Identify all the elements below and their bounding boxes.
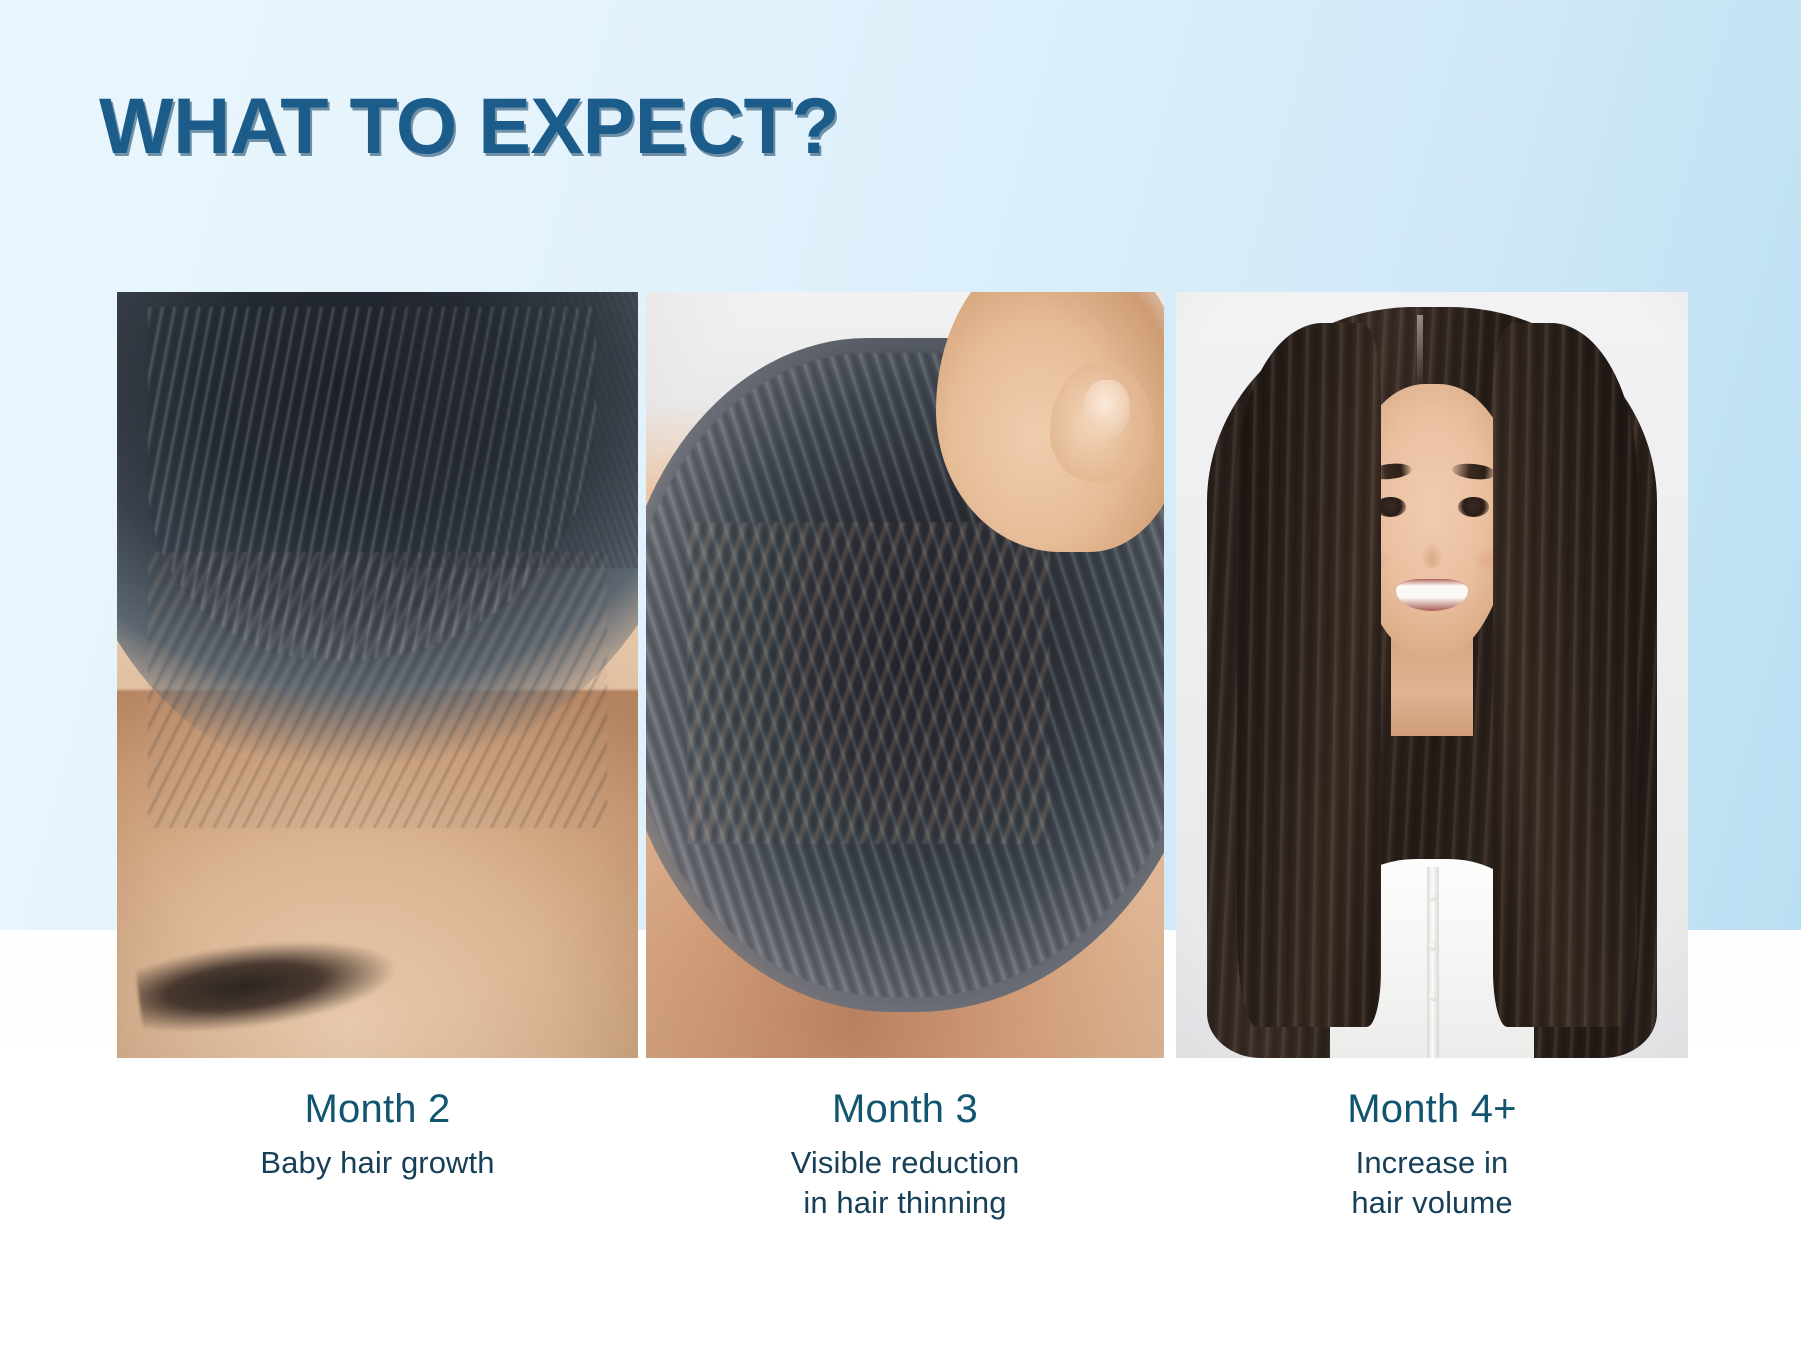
- caption-block-month-2: Month 2 Baby hair growth: [117, 1058, 638, 1183]
- timeline-gallery: Month 2 Baby hair growth Month 3 Visible…: [0, 0, 1801, 1350]
- scalp-hairline-closeup-photo: [117, 292, 638, 1058]
- card-subtitle-month-2: Baby hair growth: [117, 1143, 638, 1183]
- caption-block-month-3: Month 3 Visible reduction in hair thinni…: [646, 1058, 1164, 1224]
- hand-lifting-hair-parting-photo: [646, 292, 1164, 1058]
- timeline-card-month-3: Month 3 Visible reduction in hair thinni…: [646, 292, 1164, 1224]
- smiling-woman-long-hair-photo: [1176, 292, 1688, 1058]
- card-title-month-4-plus: Month 4+: [1176, 1086, 1688, 1133]
- card-subtitle-month-3-line-1: Visible reduction: [646, 1143, 1164, 1183]
- card-subtitle-month-3-line-2: in hair thinning: [646, 1183, 1164, 1223]
- timeline-card-month-4-plus: Month 4+ Increase in hair volume: [1176, 292, 1688, 1224]
- card-subtitle-month-4-plus-line-2: hair volume: [1176, 1183, 1688, 1223]
- card-subtitle-month-4-plus-line-1: Increase in: [1176, 1143, 1688, 1183]
- card-subtitle-month-3: Visible reduction in hair thinning: [646, 1143, 1164, 1224]
- card-title-month-2: Month 2: [117, 1086, 638, 1133]
- timeline-card-month-2: Month 2 Baby hair growth: [117, 292, 638, 1183]
- card-title-month-3: Month 3: [646, 1086, 1164, 1133]
- caption-block-month-4-plus: Month 4+ Increase in hair volume: [1176, 1058, 1688, 1224]
- card-subtitle-month-4-plus: Increase in hair volume: [1176, 1143, 1688, 1224]
